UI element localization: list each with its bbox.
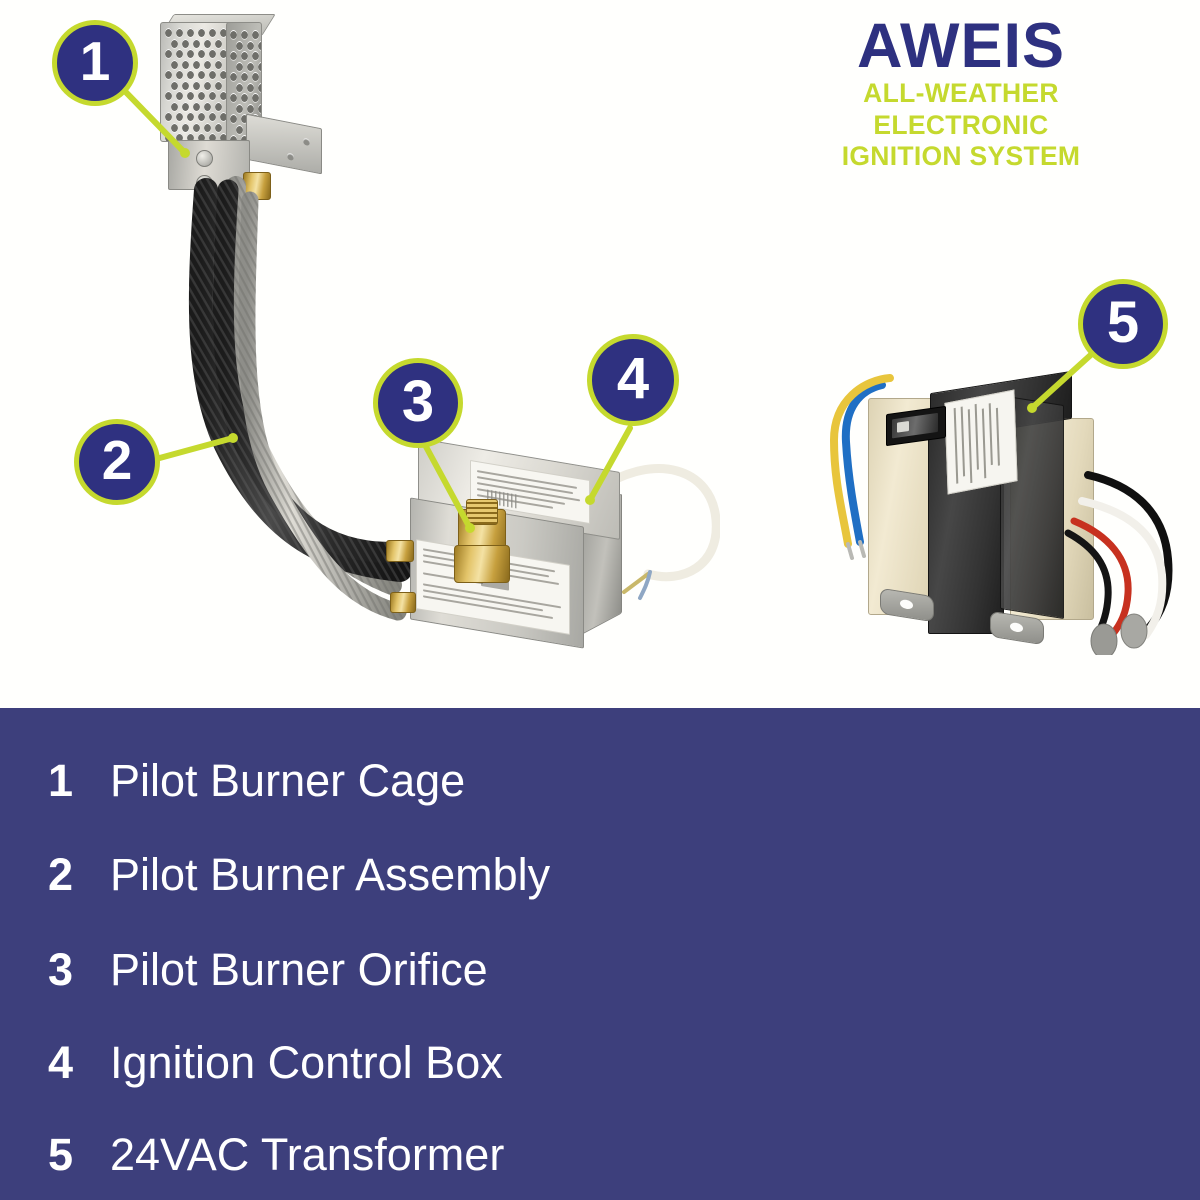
legend-row-5: 5 24VAC Transformer (48, 1132, 504, 1177)
callout-badge-2-number: 2 (102, 428, 133, 492)
callout-badge-4[interactable]: 4 (587, 334, 679, 426)
product-diagram-page: 1 2 3 4 5 AWEIS ALL-WEATHER ELECTRONIC I… (0, 0, 1200, 1200)
legend-row-4: 4 Ignition Control Box (48, 1040, 503, 1085)
legend-row-2: 2 Pilot Burner Assembly (48, 852, 550, 897)
legend-number-3: 3 (48, 947, 110, 992)
legend-number-1: 1 (48, 758, 110, 803)
callout-badge-5-number: 5 (1107, 289, 1139, 356)
callout-badge-2[interactable]: 2 (74, 419, 160, 505)
legend-number-4: 4 (48, 1040, 110, 1085)
callout-badge-4-number: 4 (617, 345, 649, 412)
callout-badge-3[interactable]: 3 (373, 358, 463, 448)
callout-badge-3-number: 3 (402, 368, 434, 435)
callout-badge-1-number: 1 (80, 29, 111, 93)
leader-dot-2 (228, 433, 238, 443)
leader-line-1 (118, 84, 185, 153)
callout-badge-5[interactable]: 5 (1078, 279, 1168, 369)
legend-row-3: 3 Pilot Burner Orifice (48, 947, 488, 992)
legend-label-5: 24VAC Transformer (110, 1132, 504, 1177)
legend-number-5: 5 (48, 1132, 110, 1177)
legend-label-1: Pilot Burner Cage (110, 758, 465, 803)
leader-dot-5 (1027, 403, 1037, 413)
leader-line-5 (1032, 352, 1094, 408)
legend-label-2: Pilot Burner Assembly (110, 852, 550, 897)
leader-line-4 (590, 428, 630, 500)
callout-badge-1[interactable]: 1 (52, 20, 138, 106)
legend-number-2: 2 (48, 852, 110, 897)
legend-label-3: Pilot Burner Orifice (110, 947, 488, 992)
leader-line-3 (424, 443, 470, 528)
leader-dot-4 (585, 495, 595, 505)
legend-panel: 1 Pilot Burner Cage 2 Pilot Burner Assem… (0, 708, 1200, 1200)
legend-row-1: 1 Pilot Burner Cage (48, 758, 465, 803)
leader-dot-3 (465, 523, 475, 533)
legend-label-4: Ignition Control Box (110, 1040, 503, 1085)
leader-dot-1 (180, 148, 190, 158)
